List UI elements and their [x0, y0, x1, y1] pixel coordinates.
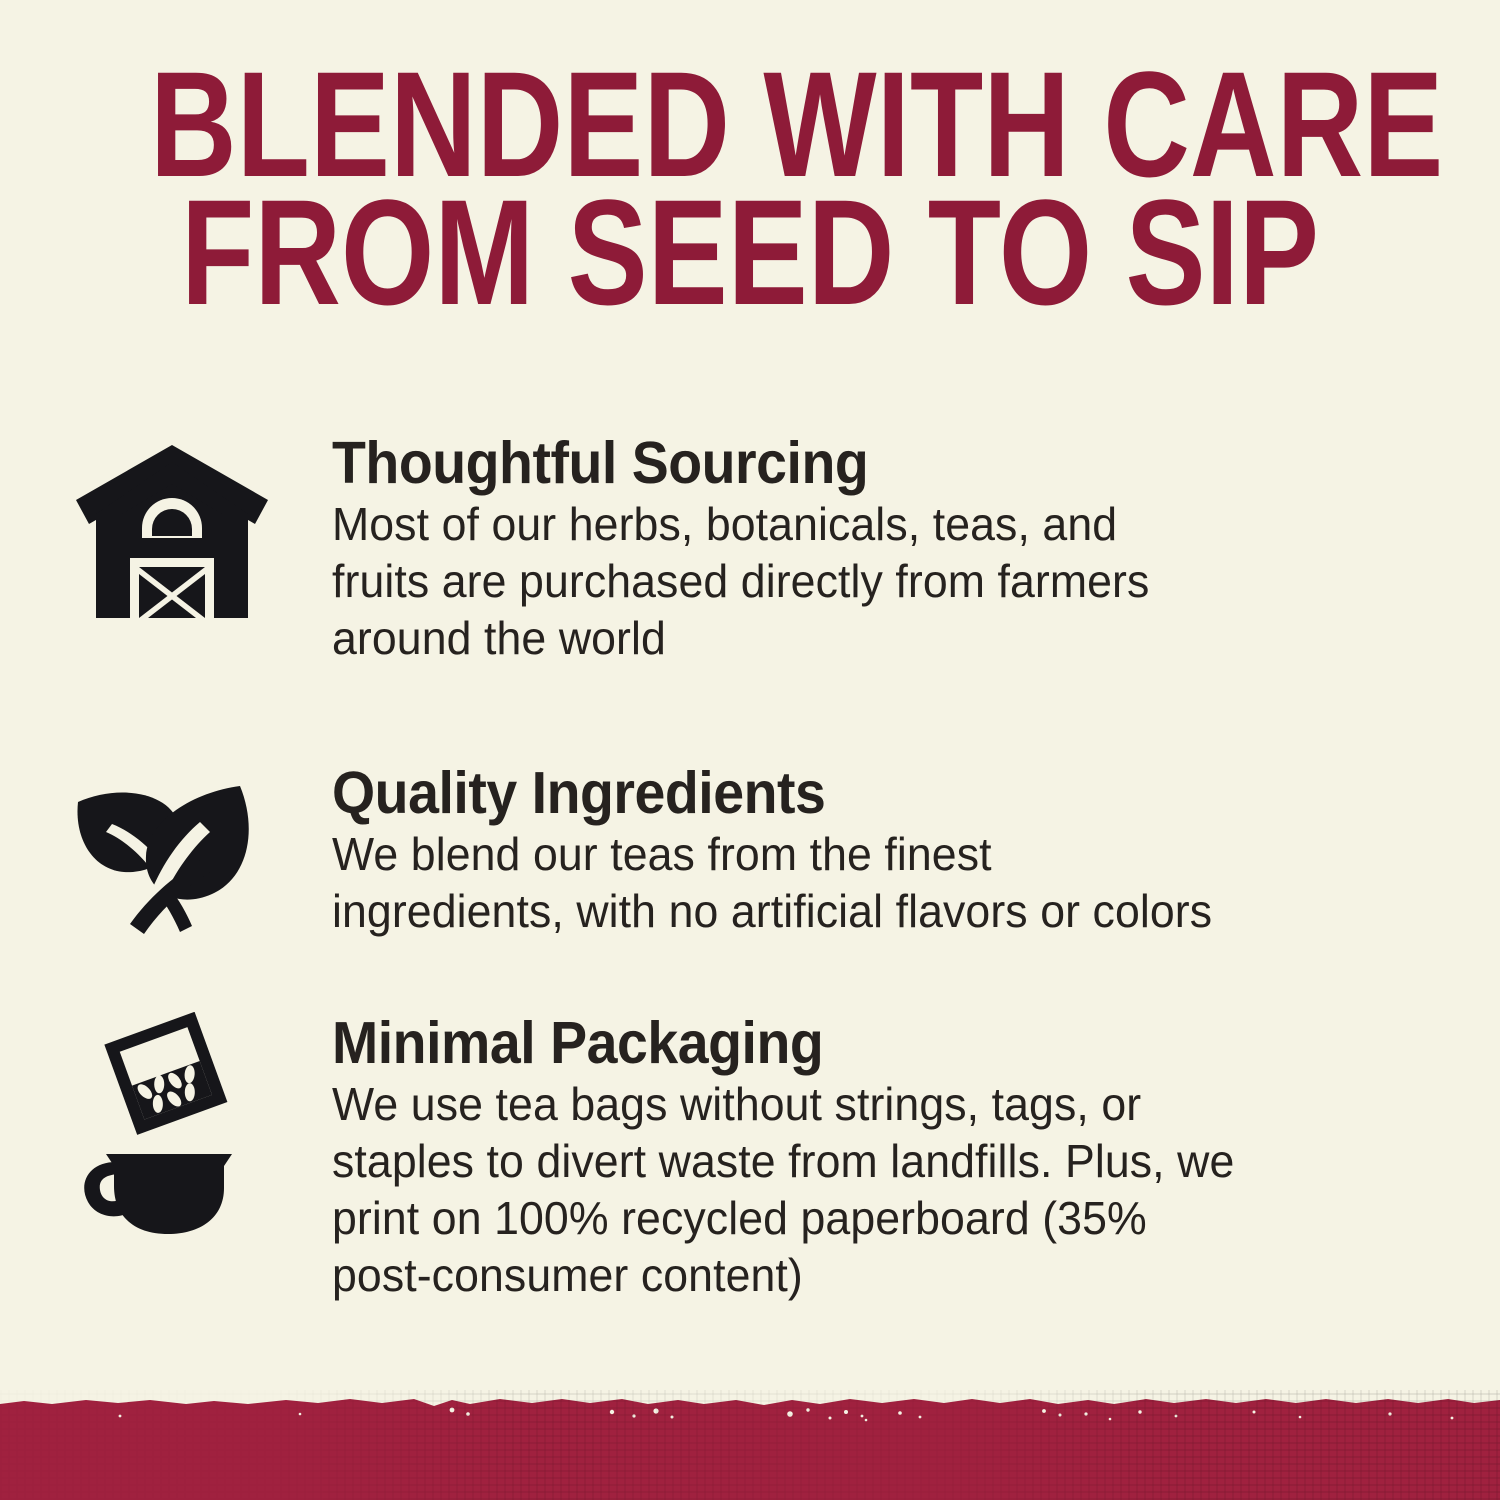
band-texture-overlay — [0, 1390, 1500, 1500]
feature-text-minimal-packaging: Minimal Packaging We use tea bags withou… — [332, 1012, 1362, 1304]
teabag-mug-icon — [72, 1012, 272, 1212]
infographic-page: BLENDED WITH CARE FROM SEED TO SIP — [0, 0, 1500, 1500]
feature-title: Thoughtful Sourcing — [332, 432, 1300, 494]
feature-title: Quality Ingredients — [332, 762, 1300, 824]
page-headline: BLENDED WITH CARE FROM SEED TO SIP — [150, 60, 1350, 316]
description-line: fruits are purchased directly from farme… — [332, 553, 1331, 610]
feature-description: We use tea bags without strings, tags, o… — [332, 1076, 1331, 1304]
description-line: staples to divert waste from landfills. … — [332, 1133, 1331, 1190]
feature-description: Most of our herbs, botanicals, teas, and… — [332, 496, 1331, 667]
description-line: ingredients, with no artificial flavors … — [332, 883, 1331, 940]
description-line: around the world — [332, 610, 1331, 667]
description-line: We blend our teas from the finest — [332, 826, 1331, 883]
feature-description: We blend our teas from the finest ingred… — [332, 826, 1331, 940]
description-line: print on 100% recycled paperboard (35% — [332, 1190, 1331, 1247]
feature-text-thoughtful-sourcing: Thoughtful Sourcing Most of our herbs, b… — [332, 432, 1362, 667]
description-line: post-consumer content) — [332, 1247, 1331, 1304]
feature-text-quality-ingredients: Quality Ingredients We blend our teas fr… — [332, 762, 1362, 940]
feature-title: Minimal Packaging — [332, 1012, 1300, 1074]
bottom-decorative-band — [0, 1390, 1500, 1500]
barn-icon — [72, 440, 272, 640]
description-line: We use tea bags without strings, tags, o… — [332, 1076, 1331, 1133]
headline-line-2: FROM SEED TO SIP — [150, 188, 1350, 316]
description-line: Most of our herbs, botanicals, teas, and — [332, 496, 1331, 553]
leaf-icon — [72, 774, 272, 974]
